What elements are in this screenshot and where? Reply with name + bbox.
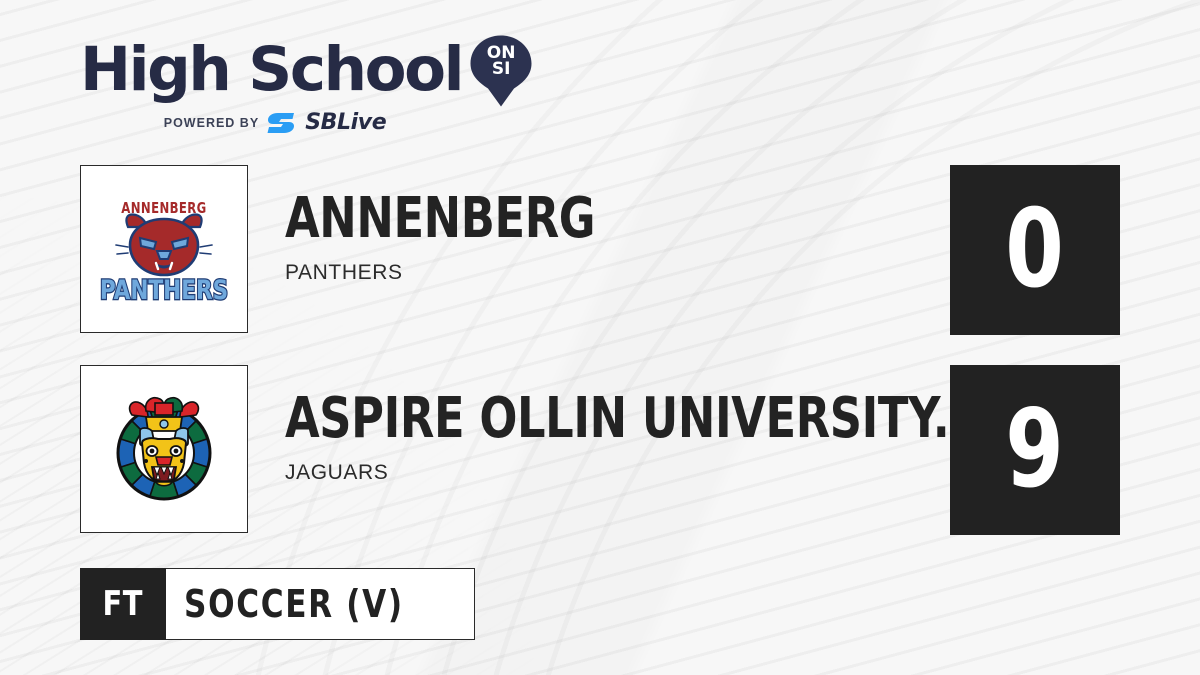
team-score: 0 <box>1006 196 1065 304</box>
game-status-bar: FT SOCCER (V) <box>80 568 475 640</box>
powered-by-label: POWERED BY <box>164 116 259 130</box>
pin-line-si: SI <box>470 61 532 77</box>
svg-text:PANTHERS: PANTHERS <box>100 274 228 306</box>
sblive-mark-icon <box>267 112 297 134</box>
team-score-box: 9 <box>950 365 1120 535</box>
team-name-block: ASPIRE OLLIN UNIVERSITY... JAGUARS <box>285 391 935 485</box>
sport-label: SOCCER (V) <box>184 582 404 626</box>
sport-label-box: SOCCER (V) <box>166 568 475 640</box>
team-logo-box: ANNENBERG PANTHERS <box>80 165 248 333</box>
powered-by-row: POWERED BY SBLive <box>40 112 510 134</box>
team-name-block: ANNENBERG PANTHERS <box>285 191 935 285</box>
sblive-wordmark: SBLive <box>305 112 386 134</box>
team-score: 9 <box>1006 396 1065 504</box>
team-mascot: JAGUARS <box>285 461 935 485</box>
team-name: ANNENBERG <box>285 191 805 247</box>
aspire-ollin-jaguars-logo-icon <box>102 387 226 511</box>
on-si-pin-icon: ON SI <box>470 35 532 107</box>
brand-title-row: High School ON SI <box>80 36 510 104</box>
status-code-label: FT <box>103 584 143 624</box>
brand-title: High School <box>80 39 462 101</box>
brand-header: High School ON SI POWERED BY SBLive <box>80 36 510 134</box>
annenberg-panthers-logo-icon: ANNENBERG PANTHERS <box>98 183 230 315</box>
team-mascot: PANTHERS <box>285 261 935 285</box>
team-logo-box <box>80 365 248 533</box>
status-code-badge: FT <box>80 568 166 640</box>
scoreboard-graphic: High School ON SI POWERED BY SBLive ANN <box>0 0 1200 675</box>
on-si-pin-label: ON SI <box>470 45 532 77</box>
team-name: ASPIRE OLLIN UNIVERSITY... <box>285 391 805 447</box>
team-score-box: 0 <box>950 165 1120 335</box>
